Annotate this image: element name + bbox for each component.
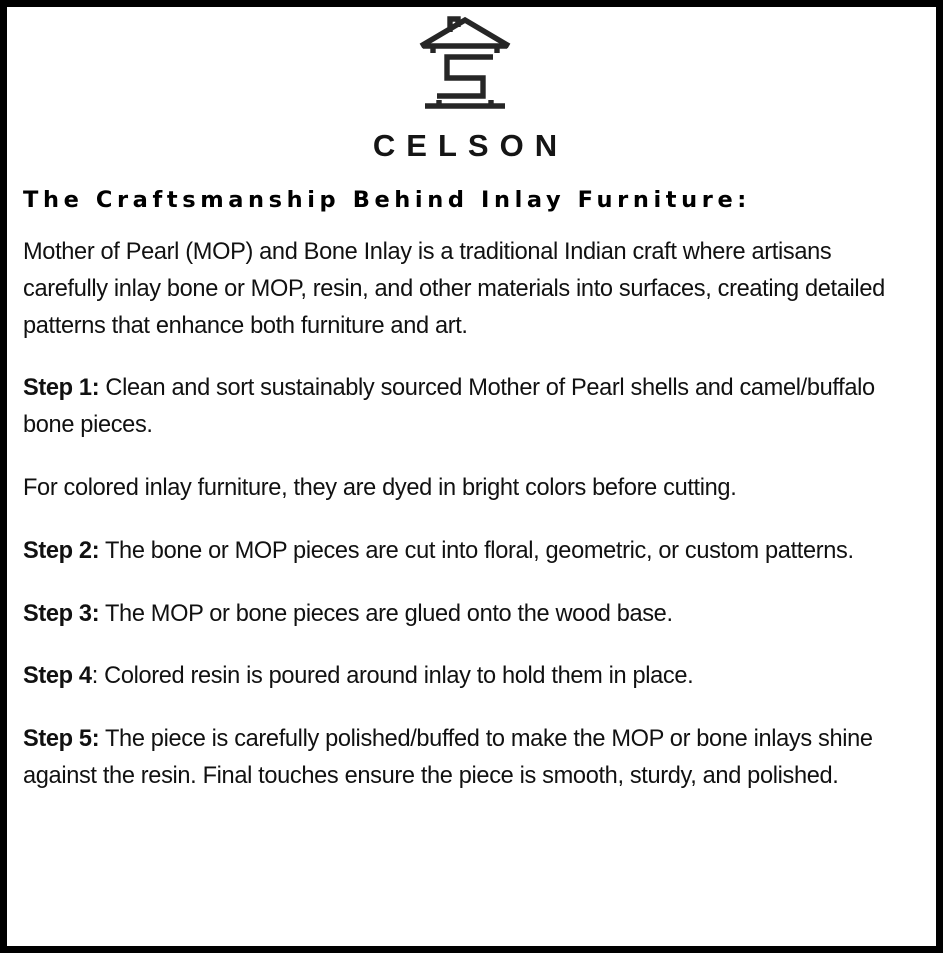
step-4-text: : Colored resin is poured around inlay t… [92,663,694,689]
paragraph-step-2: Step 2: The bone or MOP pieces are cut i… [23,533,913,570]
house-monogram-logo-icon [417,16,513,116]
poster-content: CELSON The Craftsmanship Behind Inlay Fu… [7,7,936,946]
paragraph-step-1: Step 1: Clean and sort sustainably sourc… [23,370,913,444]
step-2-label: Step 2: [23,538,99,564]
poster-card: CELSON The Craftsmanship Behind Inlay Fu… [0,0,943,953]
paragraph-dye-note: For colored inlay furniture, they are dy… [23,470,913,507]
paragraph-step-4: Step 4: Colored resin is poured around i… [23,658,913,695]
step-3-text: The MOP or bone pieces are glued onto th… [99,601,672,627]
step-2-text: The bone or MOP pieces are cut into flor… [99,538,853,564]
step-5-text: The piece is carefully polished/buffed t… [23,726,873,789]
paragraph-step-3: Step 3: The MOP or bone pieces are glued… [23,596,913,633]
brand-block: CELSON [16,12,914,161]
paragraph-step-5: Step 5: The piece is carefully polished/… [23,721,913,795]
paragraph-intro: Mother of Pearl (MOP) and Bone Inlay is … [23,234,913,344]
page-title: The Craftsmanship Behind Inlay Furniture… [23,187,914,214]
step-1-label: Step 1: [23,375,99,401]
step-5-label: Step 5: [23,726,99,752]
brand-wordmark: CELSON [16,130,914,161]
step-1-text: Clean and sort sustainably sourced Mothe… [23,375,875,438]
article-body: Mother of Pearl (MOP) and Bone Inlay is … [23,214,914,795]
step-3-label: Step 3: [23,601,99,627]
step-4-label: Step 4 [23,663,92,689]
